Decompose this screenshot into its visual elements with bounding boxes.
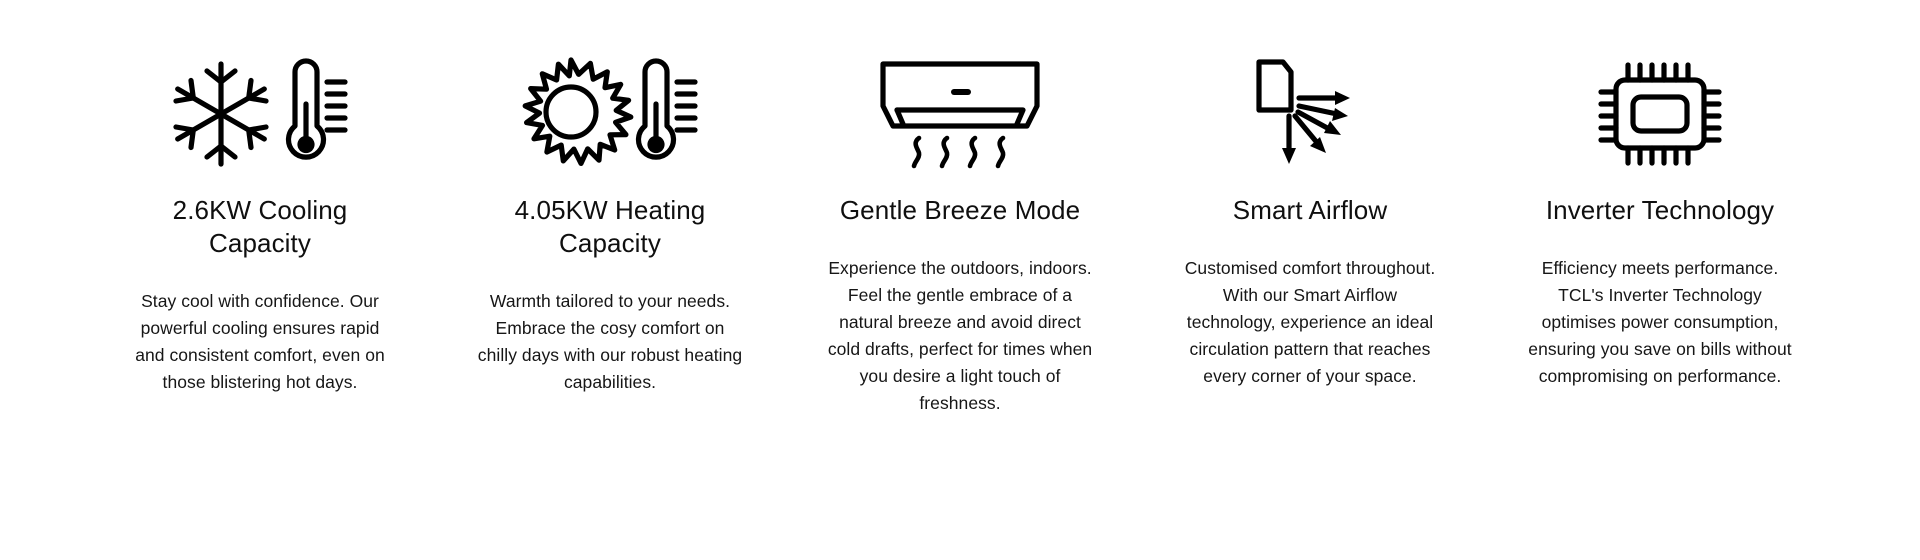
- feature-body: Efficiency meets performance. TCL's Inve…: [1526, 255, 1794, 390]
- feature-card-cooling: 2.6KW Cooling Capacity Stay cool with co…: [85, 44, 435, 396]
- smart-airflow-arrows-icon: [1235, 44, 1385, 184]
- feature-title: 2.6KW Cooling Capacity: [135, 194, 385, 260]
- feature-body: Customised comfort throughout. With our …: [1179, 255, 1441, 390]
- feature-card-smart-airflow: Smart Airflow Customised comfort through…: [1135, 44, 1485, 390]
- features-row: 2.6KW Cooling Capacity Stay cool with co…: [0, 0, 1920, 560]
- feature-title: Smart Airflow: [1233, 194, 1387, 227]
- feature-body: Warmth tailored to your needs. Embrace t…: [478, 288, 743, 396]
- feature-card-heating: 4.05KW Heating Capacity Warmth tailored …: [435, 44, 785, 396]
- feature-body: Stay cool with confidence. Our powerful …: [128, 288, 393, 396]
- snowflake-thermometer-icon: [165, 44, 355, 184]
- feature-title: Gentle Breeze Mode: [840, 194, 1080, 227]
- air-conditioner-breeze-icon: [875, 44, 1045, 184]
- feature-card-inverter: Inverter Technology Efficiency meets per…: [1485, 44, 1835, 390]
- feature-title: 4.05KW Heating Capacity: [485, 194, 735, 260]
- feature-title: Inverter Technology: [1546, 194, 1774, 227]
- feature-card-breeze: Gentle Breeze Mode Experience the outdoo…: [785, 44, 1135, 417]
- feature-body: Experience the outdoors, indoors. Feel t…: [822, 255, 1098, 417]
- sun-thermometer-icon: [515, 44, 705, 184]
- inverter-chip-icon: [1590, 44, 1730, 184]
